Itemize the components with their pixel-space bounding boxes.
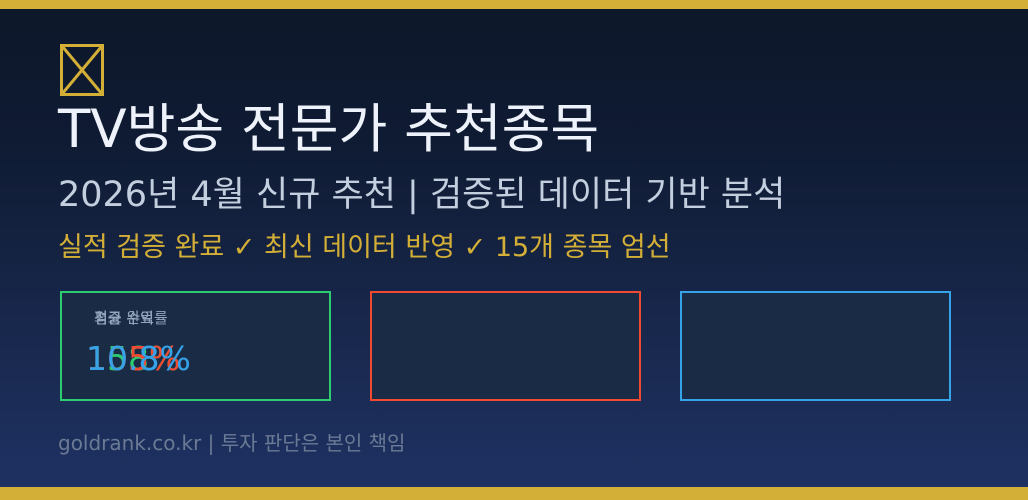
stat-box-group: 평균 수익률 158% 검증 완료 105% 최고 수익 10.8%	[60, 291, 952, 401]
top-gold-rule	[0, 0, 1028, 9]
stat-value: 105%	[86, 340, 180, 378]
stat-layer-red: 검증 완료 105%	[62, 293, 333, 403]
promo-banner: TV방송 전문가 추천종목 2026년 4월 신규 추천 | 검증된 데이터 기…	[0, 0, 1028, 500]
stat-label: 검증 완료	[94, 309, 154, 327]
page-subtitle: 2026년 4월 신규 추천 | 검증된 데이터 기반 분석	[58, 174, 785, 216]
page-title: TV방송 전문가 추천종목	[58, 101, 599, 159]
stat-layer-green: 평균 수익률 158%	[62, 293, 333, 403]
stat-layer-blue: 최고 수익 10.8%	[62, 293, 333, 403]
stat-value: 158%	[86, 340, 180, 378]
stat-box-2	[370, 291, 641, 401]
footer-disclaimer: goldrank.co.kr | 투자 판단은 본인 책임	[58, 430, 405, 456]
stat-box-3	[680, 291, 951, 401]
stat-box-1: 평균 수익률 158% 검증 완료 105% 최고 수익 10.8%	[60, 291, 331, 401]
stat-value: 10.8%	[86, 340, 191, 378]
tofu-box-x-icon	[60, 44, 104, 96]
bottom-gold-rule	[0, 487, 1028, 500]
page-tagline: 실적 검증 완료 ✓ 최신 데이터 반영 ✓ 15개 종목 엄선	[58, 231, 671, 265]
stat-label: 최고 수익	[94, 309, 154, 327]
stat-label: 평균 수익률	[94, 309, 168, 327]
